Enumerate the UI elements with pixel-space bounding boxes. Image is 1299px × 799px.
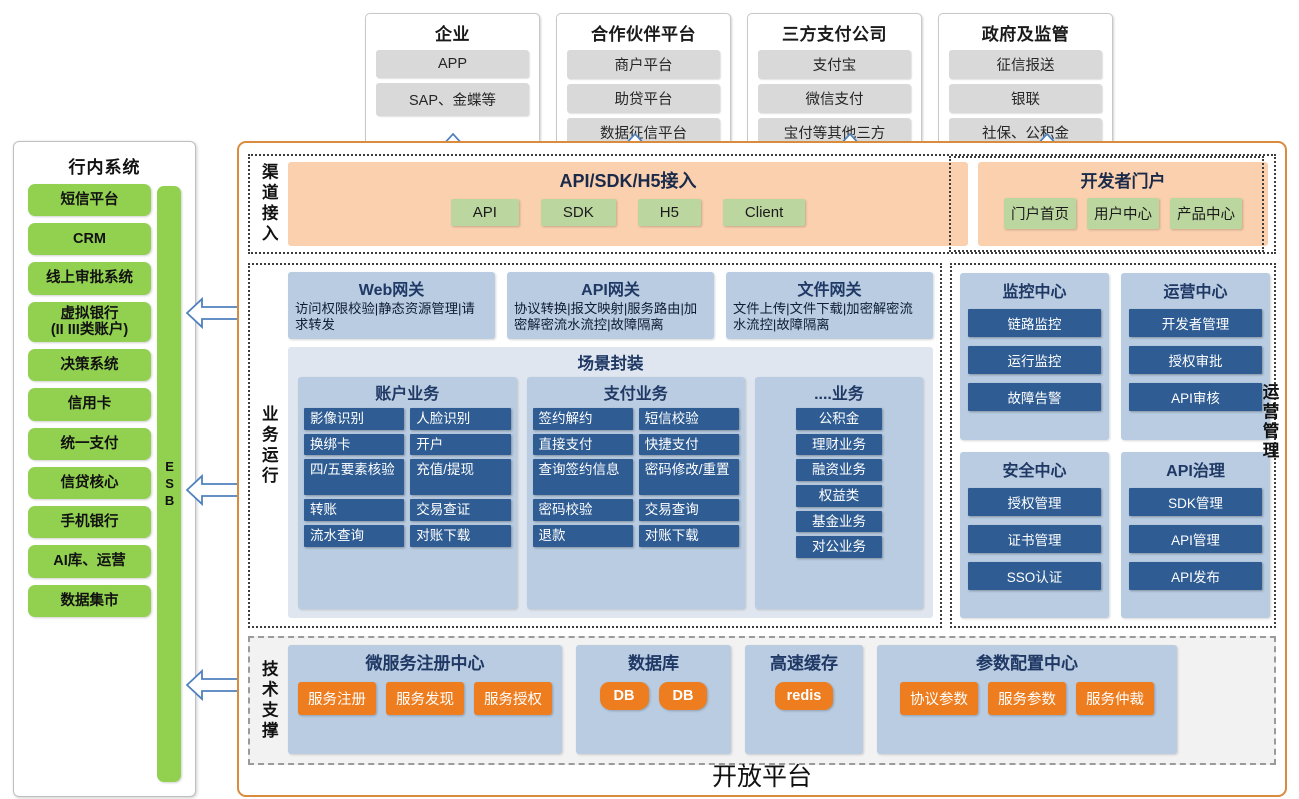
operations-content: 监控中心 链路监控 运行监控 故障告警 运营中心 开发者管理 授权审批 API审…	[952, 265, 1274, 626]
ops-chip[interactable]: 运行监控	[968, 346, 1101, 374]
operations-management-label: 运营管理	[1257, 383, 1281, 461]
scene-col-title: 账户业务	[304, 380, 511, 404]
ops-box-title: 运营中心	[1163, 278, 1227, 302]
scene-chip[interactable]: 开户	[410, 434, 510, 456]
internal-system-item[interactable]: 短信平台	[28, 184, 151, 216]
internal-system-item[interactable]: 信用卡	[28, 388, 151, 420]
access-chip-sdk[interactable]: SDK	[541, 199, 616, 226]
security-center-box: 安全中心 授权管理 证书管理 SSO认证	[960, 452, 1109, 619]
ops-chip[interactable]: 开发者管理	[1129, 309, 1262, 337]
api-gateway-box[interactable]: API网关 协议转换|报文映射|服务路由|加密解密流水流控|故障隔离	[507, 272, 714, 339]
ops-chip[interactable]: 链路监控	[968, 309, 1101, 337]
ops-box-title: API治理	[1166, 457, 1225, 481]
internal-system-item[interactable]: AI库、运营	[28, 545, 151, 577]
operation-center-box: 运营中心 开发者管理 授权审批 API审核	[1121, 273, 1270, 440]
tech-chip[interactable]: 服务参数	[988, 682, 1066, 715]
internal-systems-body: 短信平台 CRM 线上审批系统 虚拟银行 (II III类账户) 决策系统 信用…	[14, 184, 195, 790]
ops-chip[interactable]: 授权审批	[1129, 346, 1262, 374]
ops-chip[interactable]: SDK管理	[1129, 488, 1262, 516]
scene-chip-grid: 公积金 理财业务 融资业务 权益类 基金业务 对公业务	[761, 408, 917, 602]
operations-row-top: 监控中心 链路监控 运行监控 故障告警 运营中心 开发者管理 授权审批 API审…	[960, 273, 1270, 440]
scene-account-business: 账户业务 影像识别 换绑卡 四/五要素核验 转账 流水查询	[298, 377, 517, 609]
internal-system-item[interactable]: 线上审批系统	[28, 262, 151, 294]
scene-chip[interactable]: 四/五要素核验	[304, 459, 404, 495]
scene-other-business: ....业务 公积金 理财业务 融资业务 权益类 基金业务 对公业务	[755, 377, 923, 609]
page-title: 开放平台	[239, 757, 1285, 793]
scene-chip-col-left: 签约解约 直接支付 查询签约信息 密码校验 退款	[533, 408, 633, 602]
scene-payment-business: 支付业务 签约解约 直接支付 查询签约信息 密码校验 退款	[527, 377, 746, 609]
tech-chip[interactable]: 服务发现	[386, 682, 464, 715]
external-party-item[interactable]: APP	[376, 50, 529, 78]
ops-chip[interactable]: 证书管理	[968, 525, 1101, 553]
ops-chip[interactable]: 授权管理	[968, 488, 1101, 516]
access-chip-api[interactable]: API	[451, 199, 519, 226]
diagram-canvas: 企业 APP SAP、金蝶等 合作伙伴平台 商户平台 助贷平台 数据征信平台 三…	[0, 0, 1299, 799]
database-box: 数据库 DB DB	[576, 645, 731, 754]
scene-chip[interactable]: 短信校验	[639, 408, 739, 430]
ops-chip-group: 链路监控 运行监控 故障告警	[968, 309, 1101, 411]
scene-chip[interactable]: 基金业务	[796, 511, 882, 533]
scene-encapsulation-title: 场景封装	[298, 350, 923, 374]
scene-chip[interactable]: 交易查询	[639, 499, 739, 521]
esb-bus: ESB	[157, 186, 181, 782]
ops-box-title: 安全中心	[1002, 457, 1066, 481]
external-party-item[interactable]: SAP、金蝶等	[376, 83, 529, 116]
gateway-title: Web网关	[295, 276, 488, 300]
access-chip-client[interactable]: Client	[723, 199, 805, 226]
access-chip-h5[interactable]: H5	[638, 199, 701, 226]
scene-encapsulation-box: 场景封装 账户业务 影像识别 换绑卡 四/五要素核验 转账 流水查询	[288, 347, 933, 618]
external-party-title: 三方支付公司	[782, 20, 887, 45]
monitoring-center-box: 监控中心 链路监控 运行监控 故障告警	[960, 273, 1109, 440]
tech-support-label: 技术支撑	[250, 638, 286, 763]
ops-chip-group: 开发者管理 授权审批 API审核	[1129, 309, 1262, 411]
ops-chip-group: SDK管理 API管理 API发布	[1129, 488, 1262, 590]
database-chip[interactable]: DB	[600, 682, 649, 710]
tech-box-title: 数据库	[628, 649, 679, 674]
scene-chip[interactable]: 理财业务	[796, 434, 882, 456]
high-speed-cache-box: 高速缓存 redis	[745, 645, 863, 754]
tech-chip[interactable]: 协议参数	[900, 682, 978, 715]
scene-chip[interactable]: 快捷支付	[639, 434, 739, 456]
ops-chip[interactable]: 故障告警	[968, 383, 1101, 411]
gateway-row: Web网关 访问权限校验|静态资源管理|请求转发 API网关 协议转换|报文映射…	[288, 272, 933, 339]
scene-chip[interactable]: 融资业务	[796, 459, 882, 481]
ops-chip[interactable]: SSO认证	[968, 562, 1101, 590]
scene-chip-col-single: 公积金 理财业务 融资业务 权益类 基金业务 对公业务	[761, 408, 917, 602]
internal-system-item[interactable]: 手机银行	[28, 506, 151, 538]
tech-support-band: 技术支撑 微服务注册中心 服务注册 服务发现 服务授权 数据库 DB DB	[248, 636, 1276, 765]
operations-management-band: 监控中心 链路监控 运行监控 故障告警 运营中心 开发者管理 授权审批 API审…	[950, 263, 1276, 628]
internal-system-item[interactable]: 决策系统	[28, 349, 151, 381]
scene-chip-col-right: 人脸识别 开户 充值/提现 交易查证 对账下载	[410, 408, 510, 602]
scene-chip[interactable]: 影像识别	[304, 408, 404, 430]
external-party-item[interactable]: 支付宝	[758, 50, 911, 79]
scene-chip-grid: 影像识别 换绑卡 四/五要素核验 转账 流水查询 人脸识别 开户 充值/提现	[304, 408, 511, 602]
scene-chip[interactable]: 密码修改/重置	[639, 459, 739, 495]
scene-chip[interactable]: 签约解约	[533, 408, 633, 430]
tech-chip-group: DB DB	[600, 682, 708, 710]
internal-system-item[interactable]: 统一支付	[28, 428, 151, 460]
scene-chip-grid: 签约解约 直接支付 查询签约信息 密码校验 退款 短信校验 快捷支付 密码修改/	[533, 408, 740, 602]
tech-chip-group: 服务注册 服务发现 服务授权	[298, 682, 552, 715]
scene-chip[interactable]: 退款	[533, 525, 633, 547]
scene-chip[interactable]: 流水查询	[304, 525, 404, 547]
scene-chip[interactable]: 密码校验	[533, 499, 633, 521]
ops-chip[interactable]: API管理	[1129, 525, 1262, 553]
tech-chip[interactable]: 服务注册	[298, 682, 376, 715]
scene-col-title: 支付业务	[533, 380, 740, 404]
tech-box-title: 微服务注册中心	[366, 649, 485, 674]
open-platform-frame: 渠道接入 API/SDK/H5接入 API SDK H5 Client 开发者门…	[237, 141, 1287, 797]
scene-chip[interactable]: 转账	[304, 499, 404, 521]
web-gateway-box[interactable]: Web网关 访问权限校验|静态资源管理|请求转发	[288, 272, 495, 339]
ops-chip-group: 授权管理 证书管理 SSO认证	[968, 488, 1101, 590]
scene-chip[interactable]: 直接支付	[533, 434, 633, 456]
external-party-third-party-payment[interactable]: 三方支付公司 支付宝 微信支付 宝付等其他三方	[747, 13, 922, 161]
scene-chip-col-left: 影像识别 换绑卡 四/五要素核验 转账 流水查询	[304, 408, 404, 602]
scene-chip[interactable]: 充值/提现	[410, 459, 510, 495]
microservice-registry-box: 微服务注册中心 服务注册 服务发现 服务授权	[288, 645, 562, 754]
parameter-config-center-box: 参数配置中心 协议参数 服务参数 服务仲裁	[877, 645, 1177, 754]
external-party-title: 企业	[435, 20, 470, 45]
operations-row-bottom: 安全中心 授权管理 证书管理 SSO认证 API治理 SDK管理 API管理 A…	[960, 452, 1270, 619]
business-run-content: Web网关 访问权限校验|静态资源管理|请求转发 API网关 协议转换|报文映射…	[286, 265, 940, 626]
scene-chip[interactable]: 查询签约信息	[533, 459, 633, 495]
external-party-item[interactable]: 微信支付	[758, 84, 911, 113]
internal-system-item[interactable]: CRM	[28, 223, 151, 255]
scene-chip[interactable]: 公积金	[796, 408, 882, 430]
access-chip-group: API SDK H5 Client	[451, 199, 806, 226]
external-party-government-regulator[interactable]: 政府及监管 征信报送 银联 社保、公积金	[938, 13, 1113, 161]
external-party-item[interactable]: 银联	[949, 84, 1102, 113]
external-parties-row: 企业 APP SAP、金蝶等 合作伙伴平台 商户平台 助贷平台 数据征信平台 三…	[365, 13, 1113, 161]
internal-systems-list: 短信平台 CRM 线上审批系统 虚拟银行 (II III类账户) 决策系统 信用…	[14, 184, 157, 790]
channel-access-label: 渠道接入	[250, 156, 286, 252]
ops-box-title: 监控中心	[1002, 278, 1066, 302]
internal-systems-title: 行内系统	[14, 142, 195, 178]
api-governance-box: API治理 SDK管理 API管理 API发布	[1121, 452, 1270, 619]
tech-chip[interactable]: 服务仲裁	[1076, 682, 1154, 715]
developer-portal-outline	[949, 156, 1264, 252]
gateway-title: API网关	[514, 276, 707, 300]
tech-support-content: 微服务注册中心 服务注册 服务发现 服务授权 数据库 DB DB 高速缓存	[286, 638, 1274, 763]
tech-chip-group: 协议参数 服务参数 服务仲裁	[900, 682, 1154, 715]
external-party-item[interactable]: 商户平台	[567, 50, 720, 79]
scene-chip-col-right: 短信校验 快捷支付 密码修改/重置 交易查询 对账下载	[639, 408, 739, 602]
internal-systems-panel: 行内系统 短信平台 CRM 线上审批系统 虚拟银行 (II III类账户) 决策…	[13, 141, 196, 797]
internal-system-item[interactable]: 虚拟银行 (II III类账户)	[28, 302, 151, 342]
internal-system-item[interactable]: 信贷核心	[28, 467, 151, 499]
api-sdk-h5-access-box: API/SDK/H5接入 API SDK H5 Client	[288, 162, 968, 246]
business-run-label: 业务运行	[250, 265, 286, 626]
scene-chip[interactable]: 对公业务	[796, 536, 882, 558]
tech-box-title: 高速缓存	[770, 649, 838, 674]
gateway-desc: 访问权限校验|静态资源管理|请求转发	[295, 301, 488, 333]
tech-chip-group: redis	[775, 682, 834, 710]
scene-chip[interactable]: 权益类	[796, 485, 882, 507]
scene-chip[interactable]: 人脸识别	[410, 408, 510, 430]
database-chip[interactable]: DB	[659, 682, 708, 710]
external-party-title: 合作伙伴平台	[591, 20, 696, 45]
api-sdk-h5-access-title: API/SDK/H5接入	[559, 167, 696, 193]
scene-chip[interactable]: 对账下载	[639, 525, 739, 547]
ops-chip[interactable]: API审核	[1129, 383, 1262, 411]
scene-chip[interactable]: 对账下载	[410, 525, 510, 547]
external-party-item[interactable]: 征信报送	[949, 50, 1102, 79]
scene-columns: 账户业务 影像识别 换绑卡 四/五要素核验 转账 流水查询	[298, 377, 923, 609]
scene-col-title: ....业务	[761, 380, 917, 404]
external-party-item[interactable]: 助贷平台	[567, 84, 720, 113]
gateway-desc: 文件上传|文件下载|加密解密流水流控|故障隔离	[733, 301, 926, 333]
scene-chip[interactable]: 换绑卡	[304, 434, 404, 456]
esb-label: ESB	[161, 459, 177, 510]
file-gateway-box[interactable]: 文件网关 文件上传|文件下载|加密解密流水流控|故障隔离	[726, 272, 933, 339]
business-run-band: 业务运行 Web网关 访问权限校验|静态资源管理|请求转发 API网关 协议转换…	[248, 263, 942, 628]
scene-chip[interactable]: 交易查证	[410, 499, 510, 521]
tech-chip[interactable]: 服务授权	[474, 682, 552, 715]
ops-chip[interactable]: API发布	[1129, 562, 1262, 590]
gateway-desc: 协议转换|报文映射|服务路由|加密解密流水流控|故障隔离	[514, 301, 707, 333]
internal-system-item[interactable]: 数据集市	[28, 585, 151, 617]
gateway-title: 文件网关	[733, 276, 926, 300]
tech-box-title: 参数配置中心	[976, 649, 1078, 674]
external-party-title: 政府及监管	[982, 20, 1070, 45]
redis-chip[interactable]: redis	[775, 682, 834, 710]
